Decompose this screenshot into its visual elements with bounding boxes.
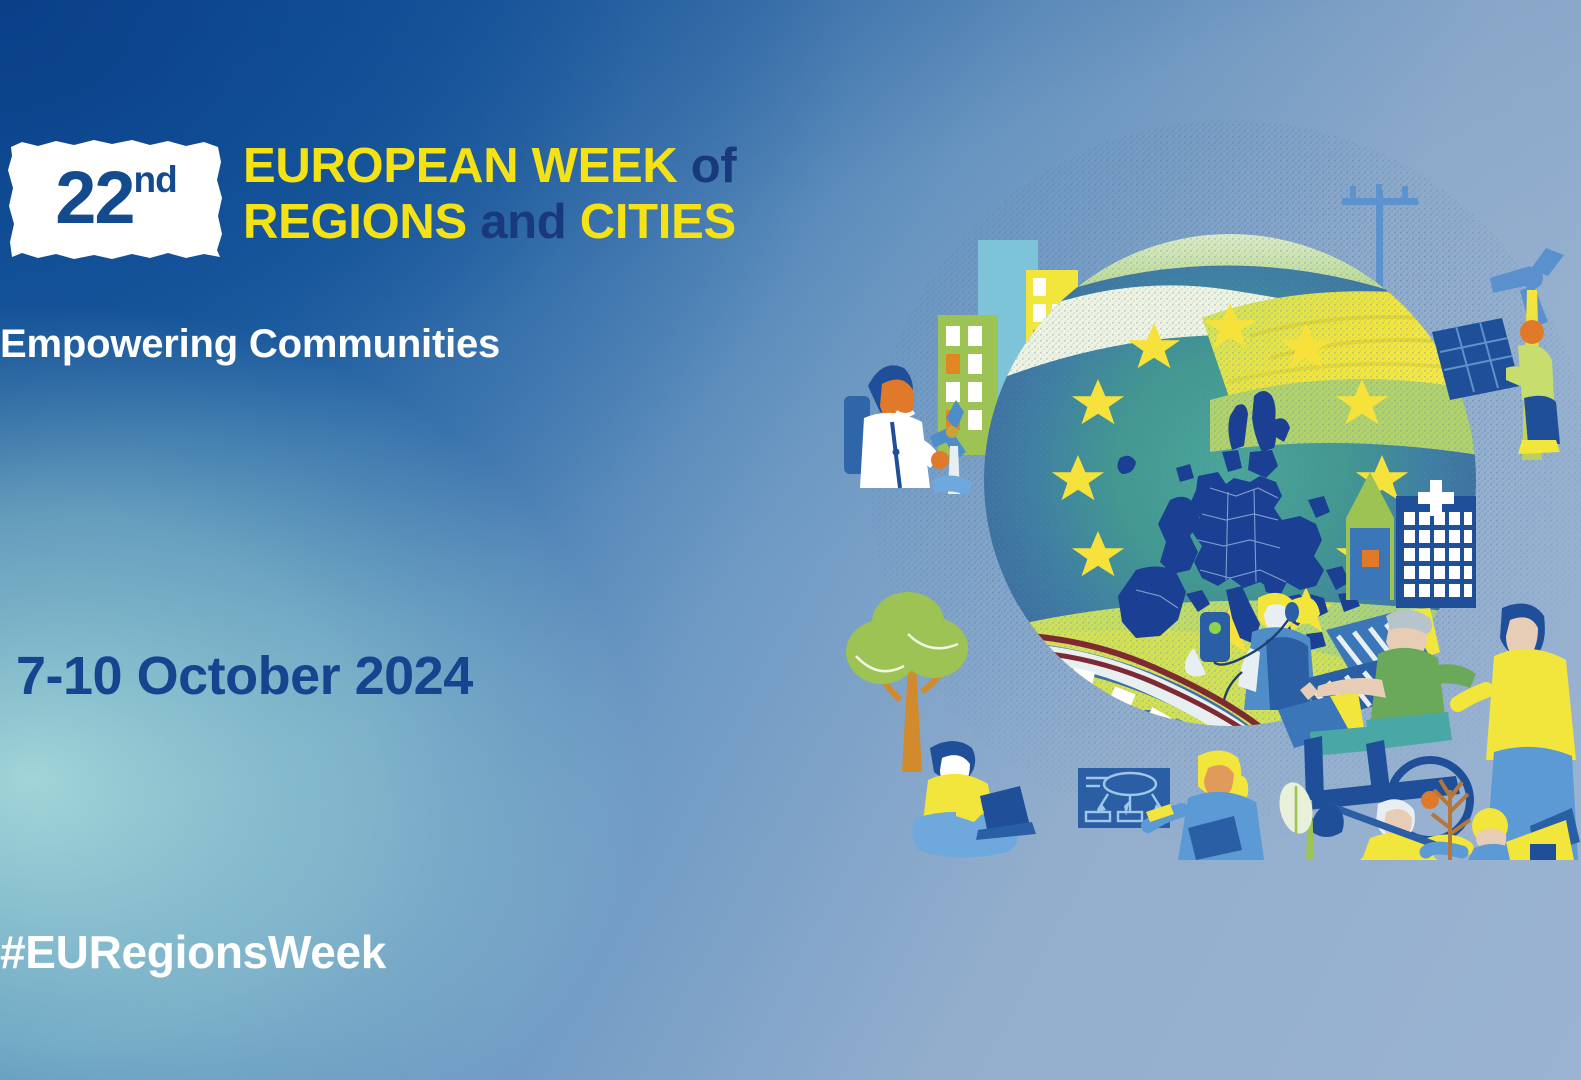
badge-ordinal: nd [134, 161, 177, 198]
event-hashtag: #EURegionsWeek [0, 925, 386, 979]
event-banner: 22nd EUROPEAN WEEK of REGIONS and CITIES… [0, 0, 1581, 1080]
badge-number: 22 [55, 161, 133, 235]
title-and: and [480, 195, 566, 249]
event-logo: 22nd EUROPEAN WEEK of REGIONS and CITIES [8, 138, 736, 261]
title-regions: REGIONS [243, 195, 467, 249]
title-line-2: REGIONS and CITIES [243, 194, 736, 250]
tagline: Empowering Communities [0, 322, 500, 367]
event-dates: 7-10 October 2024 [16, 645, 473, 707]
illustration-svg [830, 100, 1581, 860]
globe-illustration [830, 100, 1581, 860]
title-european-week: EUROPEAN WEEK [243, 139, 677, 193]
edition-badge: 22nd [8, 138, 224, 261]
title-line-1: EUROPEAN WEEK of [243, 138, 736, 194]
title-cities: CITIES [580, 195, 736, 249]
event-title: EUROPEAN WEEK of REGIONS and CITIES [243, 138, 736, 250]
title-of: of [691, 139, 737, 193]
